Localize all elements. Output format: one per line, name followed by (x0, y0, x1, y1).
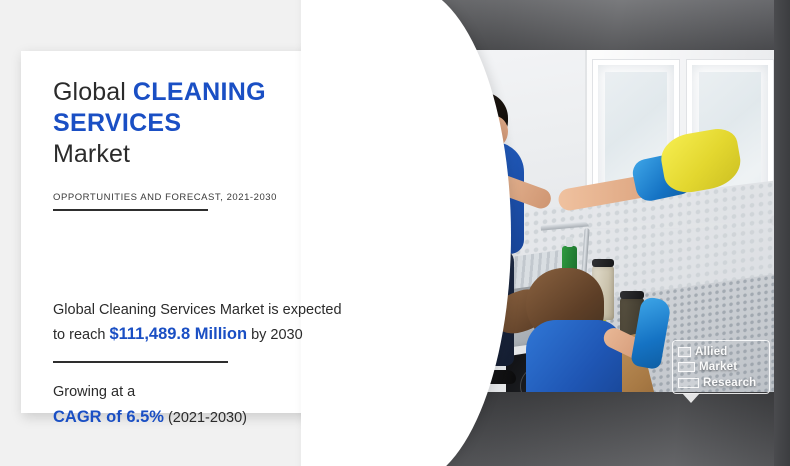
cagr-statement: Growing at aCAGR of 6.5% (2021-2030) (53, 381, 415, 431)
title-suffix: Market (53, 140, 130, 168)
logo-bar-icon-2 (678, 362, 695, 372)
market-value-statement: Global Cleaning Services Market is expec… (53, 299, 343, 348)
logo-bar-icon-1 (678, 347, 691, 357)
market-value-figure: $111,489.8 Million (109, 325, 247, 343)
blue-rubber-glove-overhead (630, 296, 672, 370)
infographic-banner: Global CLEANING SERVICESMarket OPPORTUNI… (0, 0, 790, 466)
logo-line-3: Research (703, 377, 756, 389)
logo-row-3: Research (678, 376, 764, 389)
cleaner-overhead (490, 264, 680, 394)
content-card: Global CLEANING SERVICESMarket OPPORTUNI… (21, 51, 415, 413)
cagr-lead: Growing at a (53, 384, 135, 400)
cagr-figure: CAGR of 6.5% (53, 408, 164, 426)
logo-speech-tail-icon (682, 393, 700, 403)
card-content: Global CLEANING SERVICESMarket OPPORTUNI… (21, 51, 415, 431)
logo-rows: Allied Market Research (672, 340, 770, 394)
stats-divider-rule (53, 361, 228, 362)
logo-bar-icon-3 (678, 378, 699, 388)
logo-row-1: Allied (678, 345, 764, 358)
allied-market-research-logo: Allied Market Research (672, 340, 770, 394)
cagr-period: (2021-2030) (168, 410, 247, 426)
page-title: Global CLEANING SERVICESMarket (53, 77, 383, 170)
subtitle-rule (53, 209, 208, 211)
photo-right-dark-edge (774, 0, 790, 466)
subtitle: OPPORTUNITIES AND FORECAST, 2021-2030 (53, 192, 415, 203)
yellow-cleaning-cloth (658, 126, 745, 197)
logo-line-1: Allied (695, 346, 728, 358)
cleaner-wiping-cabinet (558, 98, 768, 258)
logo-row-2: Market (678, 361, 764, 374)
title-prefix: Global (53, 78, 126, 106)
logo-line-2: Market (699, 361, 737, 373)
market-value-tail: by 2030 (251, 327, 303, 343)
